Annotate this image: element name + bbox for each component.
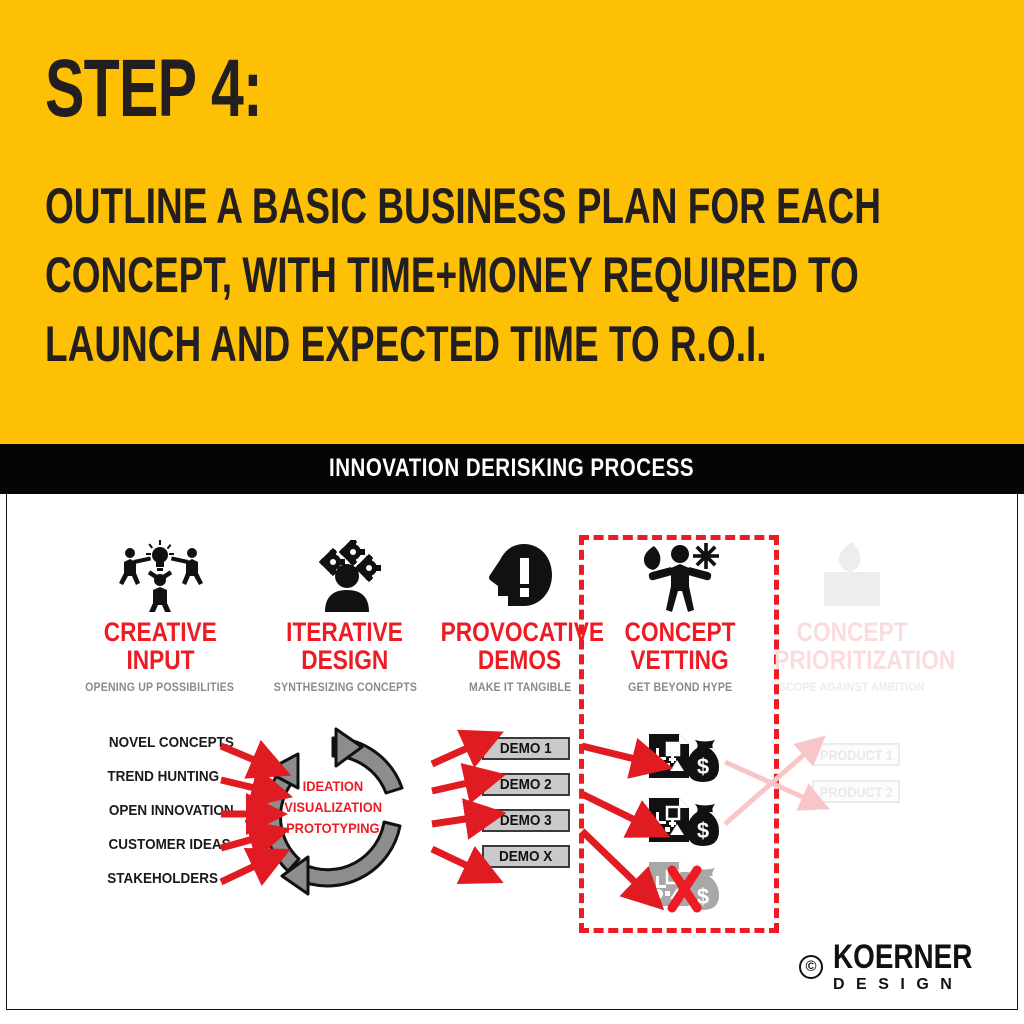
input-source-item: OPEN INNOVATION (95, 794, 215, 828)
plan-moneybag-rejected-icon: $ (645, 860, 725, 918)
stage-creative-input[interactable]: CREATIVE INPUT OPENING UP POSSIBILITIES (65, 538, 255, 694)
stage-title: ITERATIVE DESIGN (250, 618, 440, 674)
cycle-label: IDEATION VISUALIZATION PROTOTYPING (250, 776, 416, 839)
hero-line-2: CONCEPT, WITH TIME+MONEY REQUIRED TO (45, 241, 1007, 310)
brand-logo: © KOERNER DESIGN (799, 940, 1003, 993)
stage-title-line2: DESIGN (302, 646, 389, 674)
demo-box[interactable]: DEMO 3 (482, 809, 570, 832)
stage-subtitle: GET BEYOND HYPE (585, 681, 775, 694)
banner-title: INNOVATION DERISKING PROCESS (0, 451, 1024, 485)
logo-name: KOERNER (833, 940, 1003, 974)
person-fire-snowflake-icon (585, 538, 775, 612)
stage-subtitle: OPENING UP POSSIBILITIES (65, 681, 255, 694)
stage-title-line1: CREATIVE (103, 618, 216, 646)
stage-subtitle: SCOPE AGAINST AMBITION (757, 681, 947, 694)
stage-title-line2: DEMOS (478, 646, 561, 674)
logo-tagline: DESIGN (833, 977, 1003, 993)
input-source-item: TREND HUNTING (95, 760, 215, 794)
people-lightbulb-icon (65, 538, 255, 612)
stage-title: CONCEPT PRIORITIZATION (757, 618, 947, 674)
stage-subtitle: SYNTHESIZING CONCEPTS (250, 681, 440, 694)
demo-box[interactable]: DEMO 1 (482, 737, 570, 760)
step-label: STEP 4: (45, 48, 262, 130)
infographic-canvas: STEP 4: OUTLINE A BASIC BUSINESS PLAN FO… (0, 0, 1024, 1024)
demo-box[interactable]: DEMO 2 (482, 773, 570, 796)
stage-title: CREATIVE INPUT (65, 618, 255, 674)
copyright-icon: © (799, 955, 823, 979)
stage-title-line2: VETTING (631, 646, 729, 674)
stage-title: CONCEPT VETTING (585, 618, 775, 674)
stage-title-line2: PRIORITIZATION (774, 646, 955, 674)
stage-title-line1: ITERATIVE (287, 618, 404, 646)
hero-description: OUTLINE A BASIC BUSINESS PLAN FOR EACH C… (45, 172, 1007, 379)
stage-title-line1: PROVOCATIVE (441, 618, 604, 646)
plan-moneybag-icon: $ (645, 796, 725, 854)
process-banner: INNOVATION DERISKING PROCESS (0, 444, 1024, 494)
input-source-list: NOVEL CONCEPTS TREND HUNTING OPEN INNOVA… (95, 726, 215, 896)
stage-title-line1: CONCEPT (797, 618, 908, 646)
stage-concept-vetting[interactable]: CONCEPT VETTING GET BEYOND HYPE (585, 538, 775, 694)
stage-title-line2: INPUT (126, 646, 194, 674)
product-box[interactable]: PRODUCT 2 (812, 780, 900, 803)
ideation-cycle: IDEATION VISUALIZATION PROTOTYPING (250, 726, 416, 898)
demo-arrows (432, 746, 472, 868)
input-source-item: CUSTOMER IDEAS (95, 828, 215, 862)
demo-box[interactable]: DEMO X (482, 845, 570, 868)
diagram-panel: CREATIVE INPUT OPENING UP POSSIBILITIES (6, 494, 1018, 1010)
stage-iterative-design[interactable]: ITERATIVE DESIGN SYNTHESIZING CONCEPTS (250, 538, 440, 694)
product-box[interactable]: PRODUCT 1 (812, 743, 900, 766)
demo-list: DEMO 1 DEMO 2 DEMO 3 DEMO X (482, 737, 570, 881)
hero-line-1: OUTLINE A BASIC BUSINESS PLAN FOR EACH (45, 172, 1007, 241)
svg-text:$: $ (697, 754, 709, 779)
input-source-item: STAKEHOLDERS (95, 862, 215, 896)
burning-money-icon (757, 538, 947, 612)
plan-moneybag-icon: $ (645, 732, 725, 790)
banner-title-text: INNOVATION DERISKING PROCESS (330, 451, 695, 485)
stage-concept-prioritization[interactable]: CONCEPT PRIORITIZATION SCOPE AGAINST AMB… (757, 538, 947, 694)
person-gears-icon (250, 538, 440, 612)
stage-title-line1: CONCEPT (625, 618, 736, 646)
logo-words: KOERNER DESIGN (833, 940, 1003, 993)
hero-line-3: LAUNCH AND EXPECTED TIME TO R.O.I. (45, 310, 1007, 379)
input-source-item: NOVEL CONCEPTS (95, 726, 215, 760)
hero-banner: STEP 4: OUTLINE A BASIC BUSINESS PLAN FO… (0, 0, 1024, 444)
svg-text:$: $ (697, 818, 709, 843)
product-list: PRODUCT 1 PRODUCT 2 (812, 743, 900, 817)
